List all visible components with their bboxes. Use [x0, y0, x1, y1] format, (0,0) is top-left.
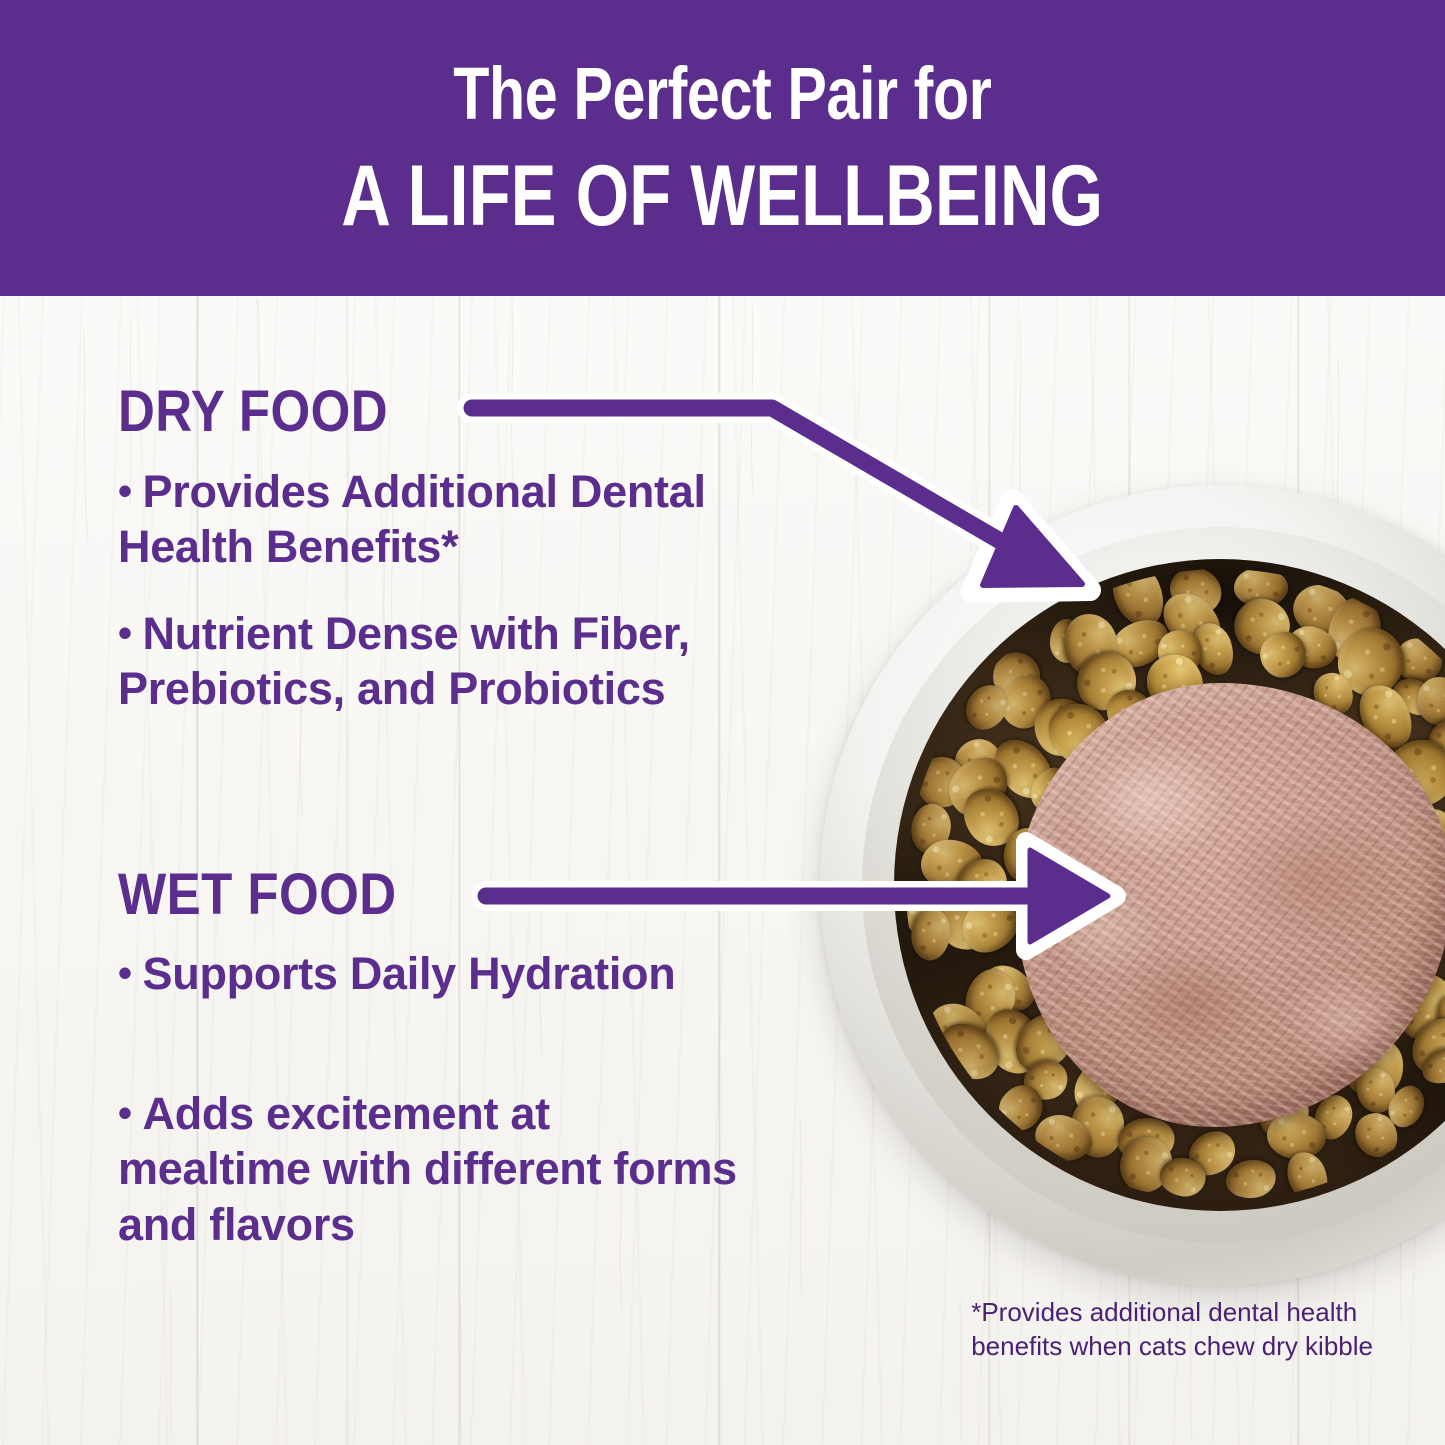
wet-food-bullet-1: •Supports Daily Hydration — [118, 946, 738, 1001]
bullet-dot-icon: • — [118, 612, 143, 656]
header-banner: The Perfect Pair for A LIFE OF WELLBEING — [0, 0, 1445, 296]
footnote-text: *Provides additional dental health benef… — [971, 1296, 1373, 1364]
wet-food-bullet-1-text: Supports Daily Hydration — [143, 948, 676, 999]
infographic-canvas: The Perfect Pair for A LIFE OF WELLBEING… — [0, 0, 1445, 1445]
content-area: DRY FOOD •Provides Additional Dental Hea… — [0, 296, 1445, 1445]
bullet-dot-icon: • — [118, 470, 143, 514]
dry-food-bullet-1-text: Provides Additional Dental Health Benefi… — [118, 466, 706, 572]
dry-food-heading: DRY FOOD — [118, 378, 388, 445]
dry-food-bullet-1: •Provides Additional Dental Health Benef… — [118, 464, 778, 575]
dry-food-bullet-2-text: Nutrient Dense with Fiber, Prebiotics, a… — [118, 608, 690, 714]
wet-food-bullet-2-text: Adds excitement at mealtime with differe… — [118, 1088, 737, 1250]
bullet-dot-icon: • — [118, 1092, 143, 1136]
title-line-2: A LIFE OF WELLBEING — [342, 153, 1104, 239]
wet-food-heading: WET FOOD — [118, 861, 397, 928]
wet-food-bullet-2: •Adds excitement at mealtime with differ… — [118, 1086, 738, 1252]
dry-food-bullet-2: •Nutrient Dense with Fiber, Prebiotics, … — [118, 606, 778, 717]
title-line-1: The Perfect Pair for — [453, 57, 991, 131]
bullet-dot-icon: • — [118, 952, 143, 996]
